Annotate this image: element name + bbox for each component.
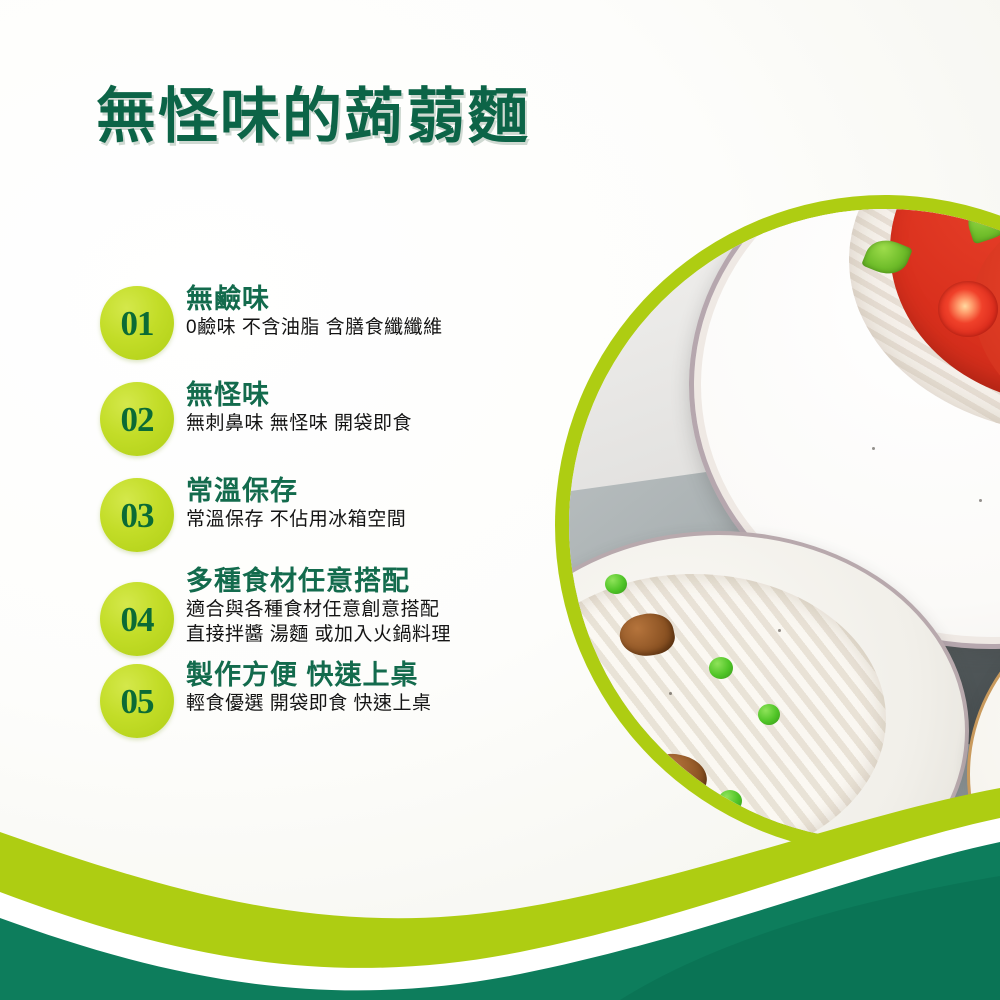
feature-text: 製作方便 快速上桌 輕食優選 開袋即食 快速上桌	[186, 658, 570, 717]
feature-number-badge: 05	[100, 664, 174, 738]
feature-text: 無鹼味 0鹼味 不含油脂 含膳食纖纖維	[186, 282, 570, 341]
feature-text: 無怪味 無刺鼻味 無怪味 開袋即食	[186, 378, 570, 437]
yellow-pepper-slice	[991, 814, 1000, 841]
feature-item-05: 05 製作方便 快速上桌 輕食優選 開袋即食 快速上桌	[100, 658, 570, 738]
page-title: 無怪味的蒟蒻麵	[96, 84, 530, 150]
cherry-tomato	[938, 281, 998, 337]
feature-subline: 無刺鼻味 無怪味 開袋即食	[186, 412, 570, 437]
feature-text: 多種食材任意搭配 適合與各種食材任意創意搭配 直接拌醬 湯麵 或加入火鍋料理	[186, 564, 570, 647]
feature-subline: 0鹼味 不含油脂 含膳食纖纖維	[186, 316, 570, 341]
feature-number-badge: 04	[100, 582, 174, 656]
feature-item-04: 04 多種食材任意搭配 適合與各種食材任意創意搭配 直接拌醬 湯麵 或加入火鍋料…	[100, 564, 570, 656]
feature-number: 03	[121, 498, 154, 533]
feature-number: 02	[121, 402, 154, 437]
feature-item-02: 02 無怪味 無刺鼻味 無怪味 開袋即食	[100, 378, 570, 456]
photo-scene	[569, 209, 1000, 841]
poster-canvas: 無怪味的蒟蒻麵	[0, 0, 1000, 1000]
green-pea	[709, 657, 733, 679]
wave-teal-shape	[0, 842, 1000, 1000]
feature-heading: 無鹼味	[186, 284, 570, 316]
feature-number-badge: 01	[100, 286, 174, 360]
food-photo-circle	[555, 195, 1000, 855]
feature-number: 01	[121, 306, 154, 341]
green-pea	[595, 759, 617, 779]
feature-number-badge: 03	[100, 478, 174, 552]
feature-subline: 輕食優選 開袋即食 快速上桌	[186, 692, 570, 717]
feature-heading: 常溫保存	[186, 476, 570, 508]
feature-subline: 常溫保存 不佔用冰箱空間	[186, 508, 570, 533]
feature-heading: 多種食材任意搭配	[186, 566, 570, 598]
wave-teal-shade	[620, 876, 1000, 1000]
feature-heading: 無怪味	[186, 380, 570, 412]
feature-text: 常溫保存 常溫保存 不佔用冰箱空間	[186, 474, 570, 533]
feature-subline: 適合與各種食材任意創意搭配	[186, 598, 570, 623]
feature-number-badge: 02	[100, 382, 174, 456]
feature-heading: 製作方便 快速上桌	[186, 660, 570, 692]
food-photo-image	[569, 209, 1000, 841]
green-pea	[758, 704, 780, 725]
feature-subline: 直接拌醬 湯麵 或加入火鍋料理	[186, 623, 570, 648]
feature-list: 01 無鹼味 0鹼味 不含油脂 含膳食纖纖維 02 無怪味 無刺鼻味 無怪味 開…	[100, 282, 570, 748]
feature-number: 05	[121, 684, 154, 719]
feature-number: 04	[121, 602, 154, 637]
feature-item-03: 03 常溫保存 常溫保存 不佔用冰箱空間	[100, 474, 570, 552]
feature-item-01: 01 無鹼味 0鹼味 不含油脂 含膳食纖纖維	[100, 282, 570, 360]
